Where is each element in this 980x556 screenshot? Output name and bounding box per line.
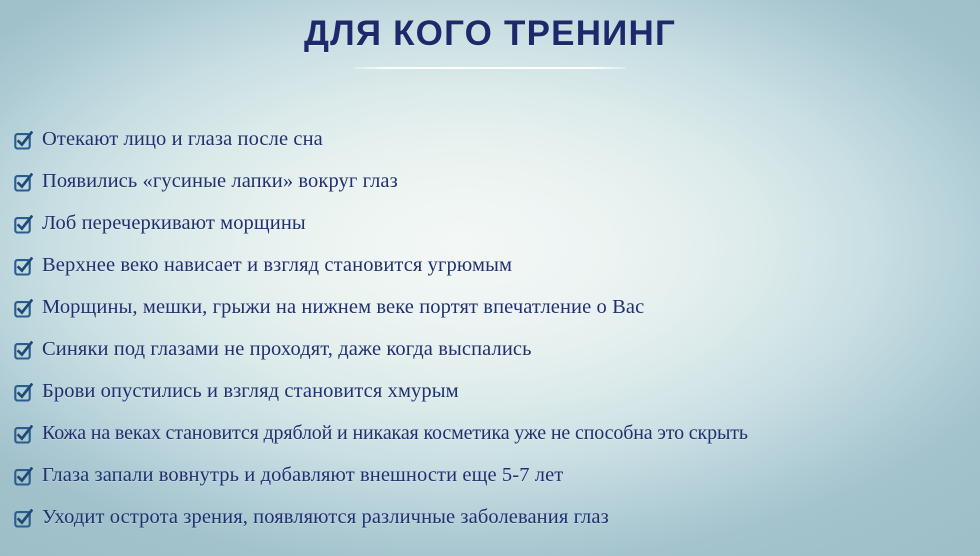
list-item-label: Морщины, мешки, грыжи на нижнем веке пор… [42,297,644,318]
list-item-label: Отекают лицо и глаза после сна [42,129,323,150]
checkbox-checked-icon [14,215,33,234]
page-title: ДЛЯ КОГО ТРЕНИНГ [0,16,980,53]
checkbox-checked-icon [14,299,33,318]
list-item: Кожа на веках становится дряблой и никак… [14,412,966,454]
checkbox-checked-icon [14,173,33,192]
list-item: Морщины, мешки, грыжи на нижнем веке пор… [14,286,966,328]
list-item: Уходит острота зрения, появляются различ… [14,496,966,538]
checkbox-checked-icon [14,425,33,444]
list-item-label: Синяки под глазами не проходят, даже ког… [42,339,532,360]
checkbox-checked-icon [14,509,33,528]
list-item: Отекают лицо и глаза после сна [14,118,966,160]
checkbox-checked-icon [14,131,33,150]
checkbox-checked-icon [14,383,33,402]
list-item-label: Верхнее веко нависает и взгляд становитс… [42,255,512,276]
list-item: Верхнее веко нависает и взгляд становитс… [14,244,966,286]
list-item: Синяки под глазами не проходят, даже ког… [14,328,966,370]
checkbox-checked-icon [14,467,33,486]
title-divider [354,67,626,69]
slide-canvas: ДЛЯ КОГО ТРЕНИНГ Отекают лицо и глаза по… [0,0,980,556]
list-item: Появились «гусиные лапки» вокруг глаз [14,160,966,202]
list-item-label: Глаза запали вовнутрь и добавляют внешно… [42,465,563,486]
checkbox-checked-icon [14,341,33,360]
list-item-label: Уходит острота зрения, появляются различ… [42,507,609,528]
list-item-label: Кожа на веках становится дряблой и никак… [42,423,748,443]
list-item: Брови опустились и взгляд становится хму… [14,370,966,412]
slide-header: ДЛЯ КОГО ТРЕНИНГ [0,16,980,69]
list-item-label: Брови опустились и взгляд становится хму… [42,381,459,402]
list-item-label: Появились «гусиные лапки» вокруг глаз [42,171,398,192]
checkbox-checked-icon [14,257,33,276]
checklist: Отекают лицо и глаза после сна Появились… [14,118,966,538]
list-item: Глаза запали вовнутрь и добавляют внешно… [14,454,966,496]
list-item: Лоб перечеркивают морщины [14,202,966,244]
list-item-label: Лоб перечеркивают морщины [42,213,306,234]
